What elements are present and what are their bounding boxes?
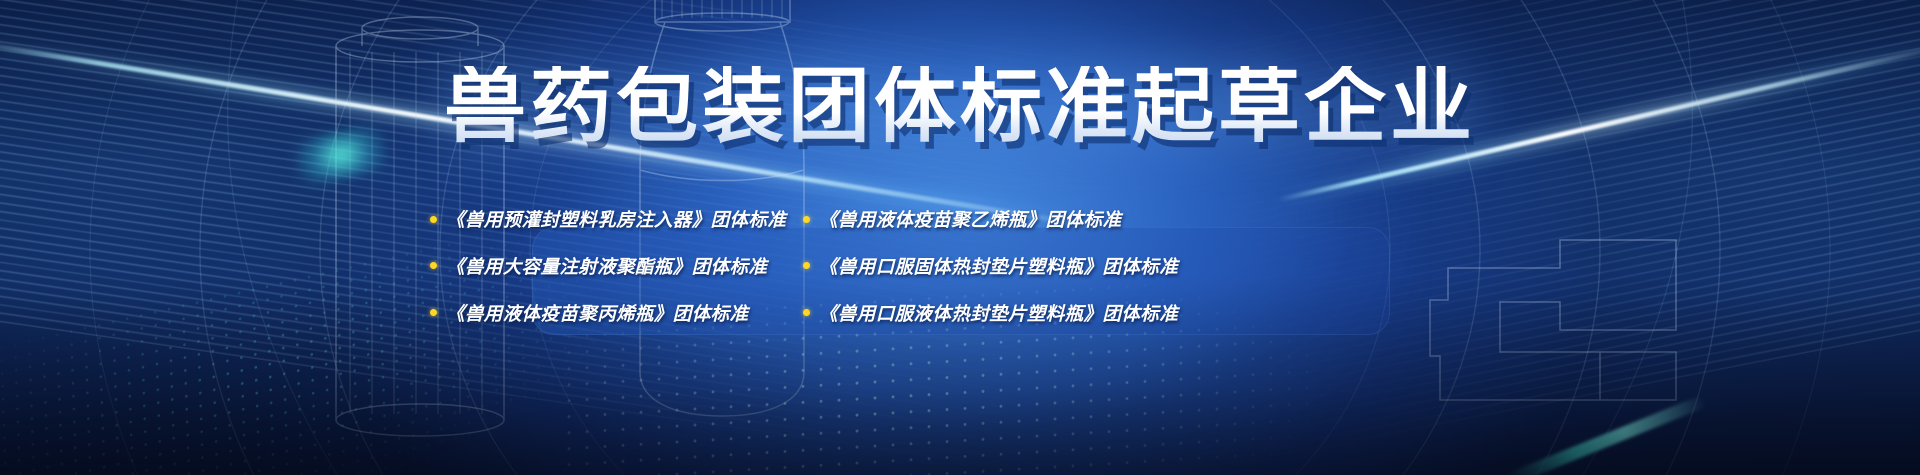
list-item: 《兽用液体疫苗聚丙烯瓶》团体标准 — [430, 300, 803, 326]
list-item: 《兽用预灌封塑料乳房注入器》团体标准 — [430, 206, 803, 232]
list-item: 《兽用液体疫苗聚乙烯瓶》团体标准 — [803, 206, 1490, 232]
bullet-dot-icon — [430, 216, 437, 223]
list-item: 《兽用口服液体热封垫片塑料瓶》团体标准 — [803, 300, 1490, 326]
bullet-dot-icon — [803, 262, 810, 269]
standard-label: 《兽用液体疫苗聚乙烯瓶》团体标准 — [819, 206, 1121, 232]
list-item: 《兽用大容量注射液聚酯瓶》团体标准 — [430, 253, 803, 279]
page-title: 兽药包装团体标准起草企业 — [438, 66, 1482, 148]
standard-label: 《兽用液体疫苗聚丙烯瓶》团体标准 — [446, 300, 748, 326]
banner-headline: 兽药包装团体标准起草企业 — [0, 66, 1920, 148]
standards-list: 《兽用预灌封塑料乳房注入器》团体标准 《兽用大容量注射液聚酯瓶》团体标准 《兽用… — [430, 196, 1490, 336]
standard-label: 《兽用预灌封塑料乳房注入器》团体标准 — [446, 206, 786, 232]
standard-label: 《兽用大容量注射液聚酯瓶》团体标准 — [446, 253, 767, 279]
list-item: 《兽用口服固体热封垫片塑料瓶》团体标准 — [803, 253, 1490, 279]
bullet-dot-icon — [430, 309, 437, 316]
bullet-dot-icon — [430, 262, 437, 269]
bullet-dot-icon — [803, 216, 810, 223]
bullet-dot-icon — [803, 309, 810, 316]
standard-label: 《兽用口服固体热封垫片塑料瓶》团体标准 — [819, 253, 1178, 279]
promo-banner: 兽药包装团体标准起草企业 《兽用预灌封塑料乳房注入器》团体标准 《兽用大容量注射… — [0, 0, 1920, 475]
standard-label: 《兽用口服液体热封垫片塑料瓶》团体标准 — [819, 300, 1178, 326]
